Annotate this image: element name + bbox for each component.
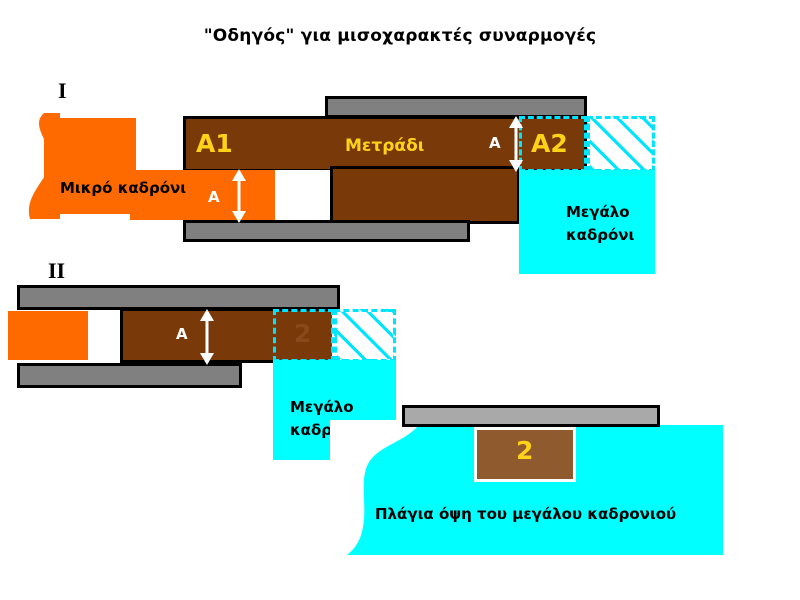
brown-ruler-leg: [330, 166, 520, 224]
dim-label-a-left: A: [208, 188, 220, 206]
label-large-batten-one: Μεγάλο καδρόνι: [566, 201, 676, 246]
label-side-two: 2: [516, 436, 533, 465]
hatch-region-one: [587, 116, 655, 172]
dim-label-a-two: A: [176, 325, 188, 343]
label-side-view-caption: Πλάγια όψη του μεγάλου καδρονιού: [375, 503, 676, 526]
dim-arrow-a-left: [228, 169, 250, 223]
label-a2: A2: [531, 129, 568, 158]
joint-gap-two: [88, 311, 120, 360]
dim-label-a-right: A: [489, 134, 501, 152]
gray-bar-two-top: [17, 285, 340, 310]
dim-arrow-a-right: [505, 116, 527, 172]
orange-break-line: [20, 113, 60, 219]
figure-numeral-two: II: [48, 258, 65, 284]
dim-arrow-a-two: [196, 309, 218, 365]
gray-bar-bottom-left: [183, 220, 470, 242]
hatch-region-two: [334, 309, 396, 362]
gray-bar-side-view: [402, 405, 660, 427]
white-break-wave: [330, 420, 440, 560]
label-a1: A1: [196, 129, 233, 158]
label-small-batten: Μικρό καδρόνι: [60, 177, 186, 200]
label-metradi: Μετράδι: [345, 136, 424, 156]
diagram-canvas: "Οδηγός" για μισοχαρακτές συναρμογές I A…: [0, 0, 800, 600]
label-ghost-two: 2: [294, 319, 311, 348]
orange-stub-two: [8, 311, 88, 360]
figure-numeral-one: I: [58, 78, 67, 104]
gray-bar-top-right: [325, 96, 587, 118]
joint-gap-one: [275, 170, 330, 220]
gray-bar-two-bottom: [17, 363, 242, 388]
diagram-title: "Οδηγός" για μισοχαρακτές συναρμογές: [0, 26, 800, 46]
